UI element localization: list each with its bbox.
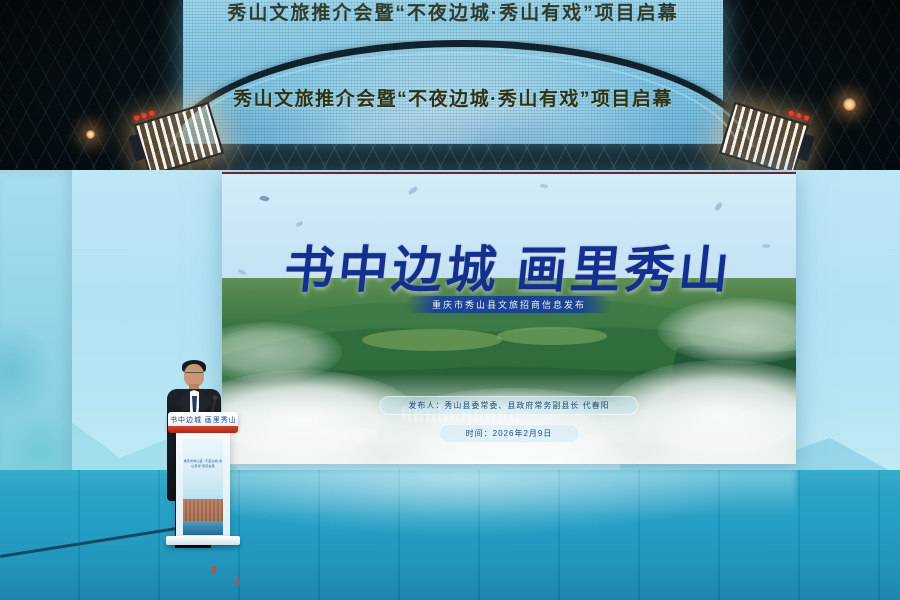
screen-main-title: 书中边城 画里秀山 [222, 230, 796, 302]
podium-panel-water [183, 521, 223, 535]
floor-marker [236, 578, 240, 585]
podium-red-band [168, 426, 238, 433]
podium-logo-text: 书中边城 画里秀山 [170, 414, 236, 427]
wall-left-ink-wash [0, 170, 72, 495]
podium-panel-cityscape [183, 499, 223, 521]
ceiling-spot-light [843, 98, 856, 111]
podium-panel-text: 重庆市秀山县 “不夜边城·秀山有戏”项目启幕 [183, 459, 223, 469]
stage-photo: 秀山文旅推介会暨“不夜边城·秀山有戏”项目启幕 秀山文旅推介会暨“不夜边城·秀山… [0, 0, 900, 600]
upper-banner-cut-text: 秀山文旅推介会暨“不夜边城·秀山有戏”项目启幕 [183, 0, 723, 25]
screen-bottom-fog [222, 374, 796, 464]
podium-body: 重庆市秀山县 “不夜边城·秀山有戏”项目启幕 [176, 433, 230, 541]
speaker-glasses [185, 372, 203, 378]
floor-marker [212, 566, 216, 573]
podium-base [166, 536, 240, 545]
screen-speaker-pill: 发布人：秀山县委常委、县政府常务副县长 代春阳 [379, 396, 638, 415]
main-led-screen: 书中边城 画里秀山 重庆市秀山县文旅招商信息发布 发布人：秀山县委常委、县政府常… [222, 172, 796, 464]
wall-left-ink-panel [0, 170, 72, 495]
ceiling-spot-light-small [86, 130, 95, 139]
screen-time-pill: 时间：2026年2月9日 [439, 424, 580, 443]
screen-subtitle-pill: 重庆市秀山县文旅招商信息发布 [406, 296, 612, 313]
banner-title-text: 秀山文旅推介会暨“不夜边城·秀山有戏”项目启幕 [183, 84, 723, 111]
podium-front-panel: 重庆市秀山县 “不夜边城·秀山有戏”项目启幕 [183, 439, 223, 535]
podium: 书中边城 画里秀山 重庆市秀山县 “不夜边城·秀山有戏”项目启幕 [172, 412, 234, 550]
